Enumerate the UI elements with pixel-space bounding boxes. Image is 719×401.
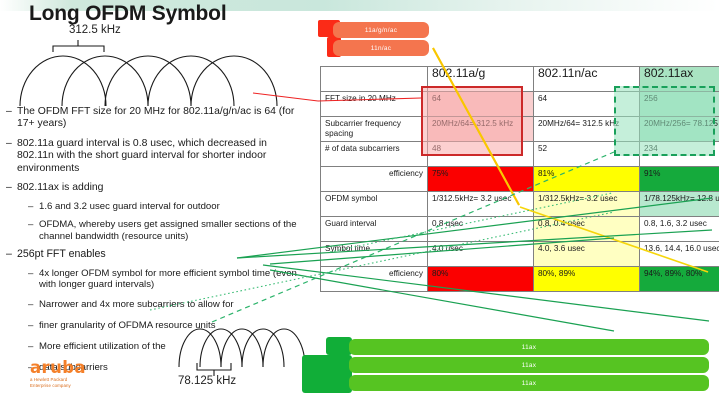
bullet-item: 802.11ax is adding [6,182,306,194]
table-row: efficiency 75% 81% 91% [321,167,719,192]
badge-11ax-3[interactable]: 11ax [349,375,709,391]
bullet-text: 1.6 and 3.2 usec guard interval for outd… [39,201,220,212]
cell-efficiency1-ag: 75% [428,167,534,192]
cell-guard-ag: 0.8 usec [428,217,534,242]
table-row: Guard interval 0.8 usec 0.8, 0.4 usec 0.… [321,217,719,242]
cell-ofdm-ag: 1/312.5kHz= 3.2 usec [428,192,534,217]
green-tab-marker-2 [302,355,352,393]
header-blank [321,67,428,92]
aruba-logo: aruba a Hewlett Packard Enterprise compa… [30,360,86,389]
table-row: Subcarrier frequency spacing 20MHz/64= 3… [321,117,719,142]
row-label-guard-interval: Guard interval [321,217,428,242]
logo-tagline-line2: Enterprise company [30,383,86,388]
badge-11ax-2[interactable]: 11ax [349,357,709,373]
cell-fft-ax: 256 [640,92,719,117]
bullet-text: More efficient utilization of the [39,341,166,352]
bullet-text: 802.11ax is adding [17,182,103,193]
bottom-ofdm-waveform [175,305,305,367]
header-802-11ax: 802.11ax [640,67,719,92]
cell-efficiency2-ag: 80% [428,267,534,292]
table-row: efficiency 80% 80%, 89% 94%, 89%, 80% [321,267,719,292]
row-label-efficiency-1: efficiency [321,167,428,192]
slide-canvas: Long OFDM Symbol 312.5 kHz The OFDM FFT … [0,0,719,401]
cell-symboltime-nac: 4.0, 3.6 usec [534,242,640,267]
bullet-item: 4x longer OFDM symbol for more efficient… [28,268,306,291]
cell-ofdm-ax: 1/78.125kHz= 12.8 usec [640,192,719,217]
bullet-item: 802.11a guard interval is 0.8 usec, whic… [6,138,306,175]
cell-guard-ax: 0.8, 1.6, 3.2 usec [640,217,719,242]
bullet-text: 256pt FFT enables [17,248,106,260]
bullet-text: OFDMA, whereby users get assigned smalle… [39,219,297,242]
logo-wordmark: aruba [30,360,86,376]
table-row: FFT size in 20 MHz 64 64 256 [321,92,719,117]
cell-efficiency1-ax: 91% [640,167,719,192]
badge-11agnac[interactable]: 11a/g/n/ac [333,22,429,38]
header-802-11ag: 802.11a/g [428,67,534,92]
header-802-11nac: 802.11n/ac [534,67,640,92]
table-row: Symbol time 4.0 usec 4.0, 3.6 usec 13.6,… [321,242,719,267]
row-label-ofdm-symbol: OFDM symbol [321,192,428,217]
badge-11nac[interactable]: 11n/ac [333,40,429,56]
cell-fft-ag: 64 [428,92,534,117]
cell-fft-nac: 64 [534,92,640,117]
top-ofdm-waveform [10,40,280,106]
row-label-fft-size: FFT size in 20 MHz [321,92,428,117]
bullet-text: The OFDM FFT size for 20 MHz for 802.11a… [17,106,294,129]
cell-subcarriers-nac: 52 [534,142,640,167]
cell-ofdm-nac: 1/312.5kHz= 3.2 usec [534,192,640,217]
cell-symboltime-ag: 4.0 usec [428,242,534,267]
cell-efficiency2-nac: 80%, 89% [534,267,640,292]
bullet-text: 4x longer OFDM symbol for more efficient… [39,268,297,291]
bullet-item: 1.6 and 3.2 usec guard interval for outd… [28,201,306,213]
row-label-symbol-time: Symbol time [321,242,428,267]
logo-tagline-line1: a Hewlett Packard [30,377,86,382]
bullet-text: 802.11a guard interval is 0.8 usec, whic… [17,138,267,174]
page-title: Long OFDM Symbol [29,2,226,26]
bullet-item: 256pt FFT enables [6,248,306,260]
cell-efficiency1-nac: 81% [534,167,640,192]
table-row: # of data subcarriers 48 52 234 [321,142,719,167]
cell-efficiency2-ax: 94%, 89%, 80% [640,267,719,292]
row-label-efficiency-2: efficiency [321,267,428,292]
badge-11ax-1[interactable]: 11ax [349,339,709,355]
cell-guard-nac: 0.8, 0.4 usec [534,217,640,242]
bullet-item: OFDMA, whereby users get assigned smalle… [28,219,306,242]
row-label-subcarrier-spacing: Subcarrier frequency spacing [321,117,428,142]
table-row: OFDM symbol 1/312.5kHz= 3.2 usec 1/312.5… [321,192,719,217]
cell-spacing-ax: 20MHz/256= 78.125 kHz [640,117,719,142]
bottom-frequency-label: 78.125 kHz [178,375,236,387]
row-label-data-subcarriers: # of data subcarriers [321,142,428,167]
bullet-item: The OFDM FFT size for 20 MHz for 802.11a… [6,106,306,131]
cell-subcarriers-ax: 234 [640,142,719,167]
comparison-table: 802.11a/g 802.11n/ac 802.11ax FFT size i… [320,66,719,292]
cell-spacing-nac: 20MHz/64= 312.5 kHz [534,117,640,142]
top-frequency-label: 312.5 kHz [69,24,121,36]
cell-spacing-ag: 20MHz/64= 312.5 kHz [428,117,534,142]
cell-symboltime-ax: 13.6, 14.4, 16.0 usec [640,242,719,267]
cell-subcarriers-ag: 48 [428,142,534,167]
table-header-row: 802.11a/g 802.11n/ac 802.11ax [321,67,719,92]
